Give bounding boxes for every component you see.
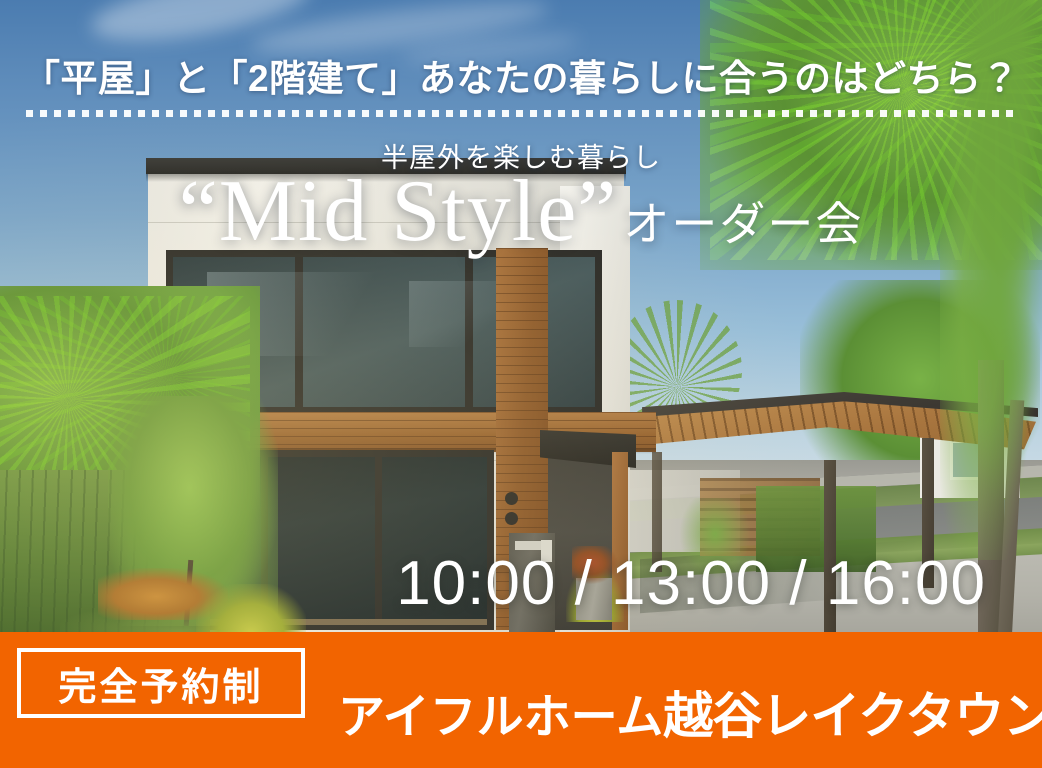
reservation-required-label: 完全予約制 xyxy=(58,656,263,711)
event-title-row: “Mid Style” オーダー会 xyxy=(0,168,1042,256)
reservation-required-badge: 完全予約制 xyxy=(17,648,305,718)
light-fixture-icon xyxy=(505,512,518,525)
event-title-suffix: オーダー会 xyxy=(623,202,863,256)
intercom-icon xyxy=(505,492,518,505)
headline-question: 「平屋」と「2階建て」あなたの暮らしに合うのはどちら？ xyxy=(0,48,1042,102)
session-times: 10:00 / 13:00 / 16:00 xyxy=(396,548,986,619)
shop-branch-label: 越谷レイクタウン店 xyxy=(663,688,1042,744)
shop-brand-label: アイフルホーム xyxy=(338,690,663,743)
dotted-divider xyxy=(26,110,1016,117)
shop-name: アイフルホーム越谷レイクタウン店 xyxy=(338,676,1042,748)
event-title-main: “Mid Style” xyxy=(179,168,618,256)
promotional-poster: 「平屋」と「2階建て」あなたの暮らしに合うのはどちら？ 半屋外を楽しむ暮らし “… xyxy=(0,0,1042,768)
